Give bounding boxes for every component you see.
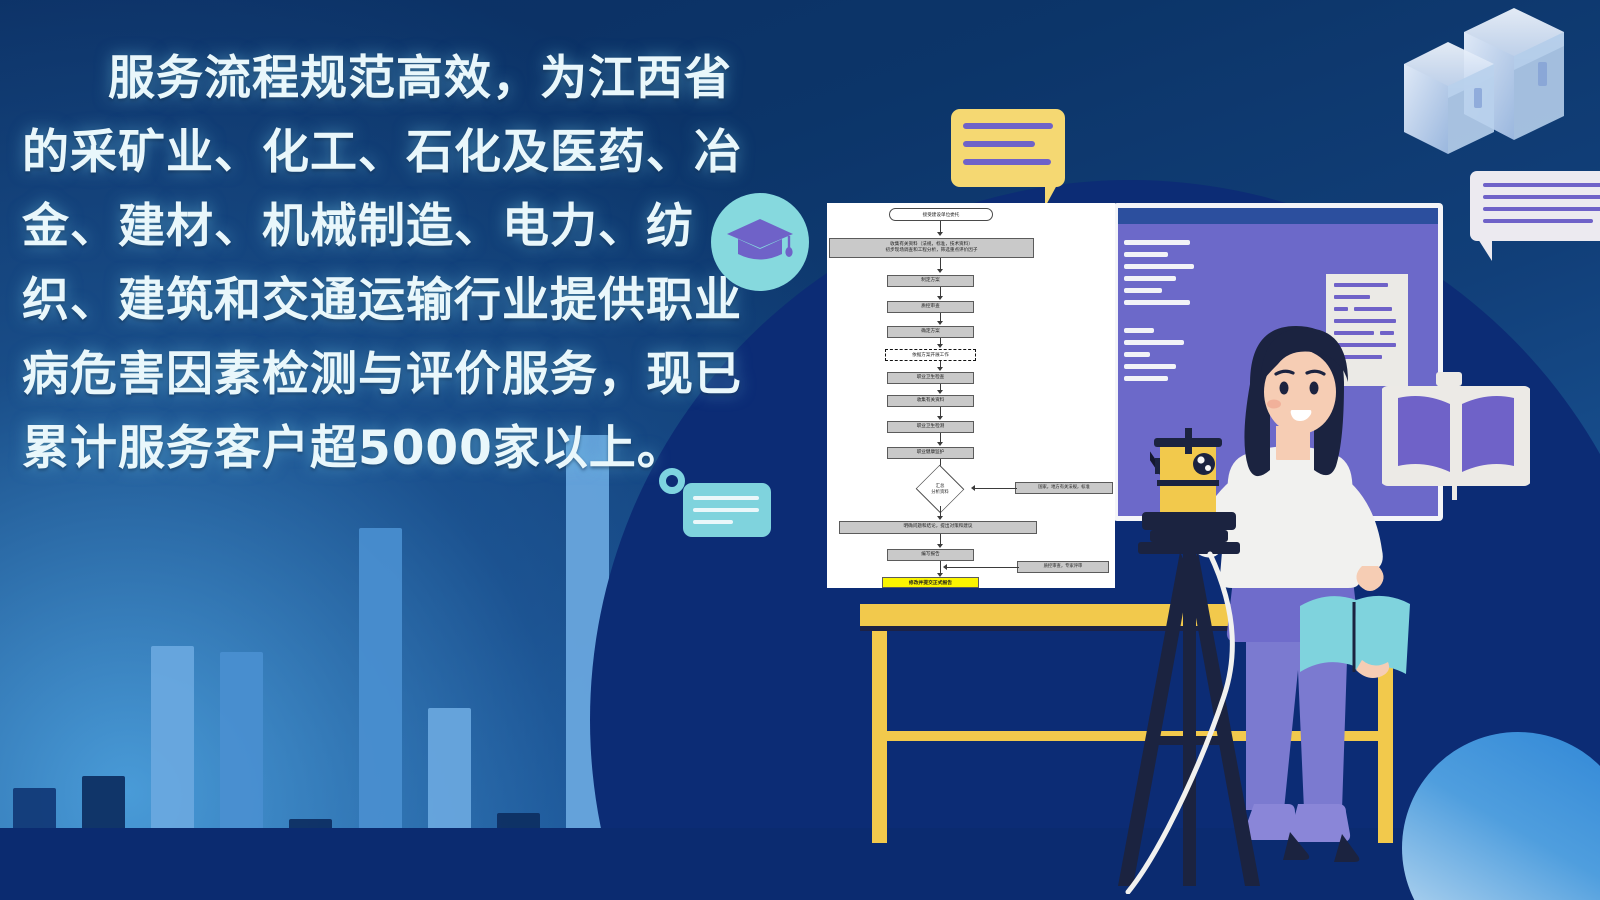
bubble-line: [1483, 195, 1600, 199]
doc-line: [1334, 283, 1388, 287]
flow-node-n14: 编写报告: [887, 549, 974, 561]
card-line: [693, 508, 759, 512]
flow-node-n12: 国家，地方有关法规，标准: [1015, 482, 1113, 494]
flow-arrow-tip: [937, 390, 943, 394]
flow-node-n7: 职业卫生检查: [887, 372, 974, 384]
poster-canvas: 服务流程规范高效，为江西省的采矿业、化工、石化及医药、冶金、建材、机械制造、电力…: [0, 0, 1600, 900]
doc-line: [1334, 295, 1370, 299]
flow-arrow-tip: [937, 516, 943, 520]
text-card-icon: [683, 483, 771, 537]
bubble-tail: [1478, 239, 1492, 261]
card-line: [693, 520, 733, 524]
page-title: 服务流程规范高效，为江西省的采矿业、化工、石化及医药、冶金、建材、机械制造、电力…: [22, 42, 762, 486]
flow-arrow-tip: [937, 416, 943, 420]
flow-node-n9: 职业卫生检测: [887, 421, 974, 433]
chalk-line: [1124, 288, 1162, 293]
speech-bubble-icon: [951, 109, 1065, 187]
flow-arrow-tip: [937, 269, 943, 273]
flow-node-n3: 制定方案: [887, 275, 974, 287]
chalk-line: [1124, 300, 1190, 305]
flow-arrow-tip: [937, 321, 943, 325]
flow-arrow-tip: [937, 232, 943, 236]
flow-arrow-tip: [937, 344, 943, 348]
tripod-glyph: [1100, 424, 1280, 894]
chalk-line: [1124, 252, 1168, 257]
chalk-line: [1124, 240, 1190, 245]
chalk-line: [1124, 352, 1150, 357]
card-line: [693, 496, 759, 500]
flow-arrow-tip: [937, 367, 943, 371]
flow-node-n5: 确定方案: [887, 326, 974, 338]
flow-node-n4: 质控审查: [887, 301, 974, 313]
bubble-line: [1483, 219, 1593, 223]
books-glyph: [1378, 2, 1598, 172]
bubble-line: [963, 123, 1053, 129]
graduation-cap-icon: [711, 193, 809, 291]
flow-node-n16: 修改并提交正式报告: [882, 577, 979, 588]
chalk-line: [1124, 276, 1176, 281]
service-flowchart: 接受建设单位委托 收集有关资料（法规，标准，技术资料） 初步现场调查和工程分析，…: [827, 203, 1115, 588]
whiteboard-header: [1118, 208, 1438, 224]
flow-arrow: [947, 567, 1019, 568]
flow-node-n1: 接受建设单位委托: [889, 208, 993, 221]
books-icon: [1378, 2, 1598, 172]
flow-node-n8: 收集有关资料: [887, 395, 974, 407]
graduation-cap-glyph: [725, 217, 795, 267]
doc-line: [1354, 307, 1392, 311]
bubble-line: [963, 141, 1035, 147]
flow-arrow-tip: [937, 296, 943, 300]
flow-node-n13: 明确问题和结论，提出对策和建议: [839, 521, 1037, 534]
flow-node-n6: 依据方案开展工作: [885, 349, 976, 361]
chalk-line: [1124, 264, 1194, 269]
flow-node-n15: 质控审查，专家评审: [1017, 561, 1109, 573]
bubble-line: [963, 159, 1051, 165]
flow-node-n11: 汇总 分析资料: [912, 472, 968, 506]
doc-line: [1334, 307, 1348, 311]
bubble-line: [1483, 207, 1600, 211]
survey-tripod-icon: [1100, 424, 1280, 894]
flow-arrow-tip: [937, 442, 943, 446]
bubble-line: [1483, 183, 1600, 187]
flow-arrow-tip: [971, 485, 975, 491]
flow-arrow-tip: [943, 564, 947, 570]
flow-node-n2: 收集有关资料（法规，标准，技术资料） 初步现场调查和工程分析，筛选重点评价因子: [829, 238, 1034, 258]
flow-node-n10: 职业健康监护: [887, 447, 974, 459]
speech-bubble-icon: [1470, 171, 1600, 241]
flow-arrow: [975, 488, 1017, 489]
flow-arrow-tip: [937, 544, 943, 548]
